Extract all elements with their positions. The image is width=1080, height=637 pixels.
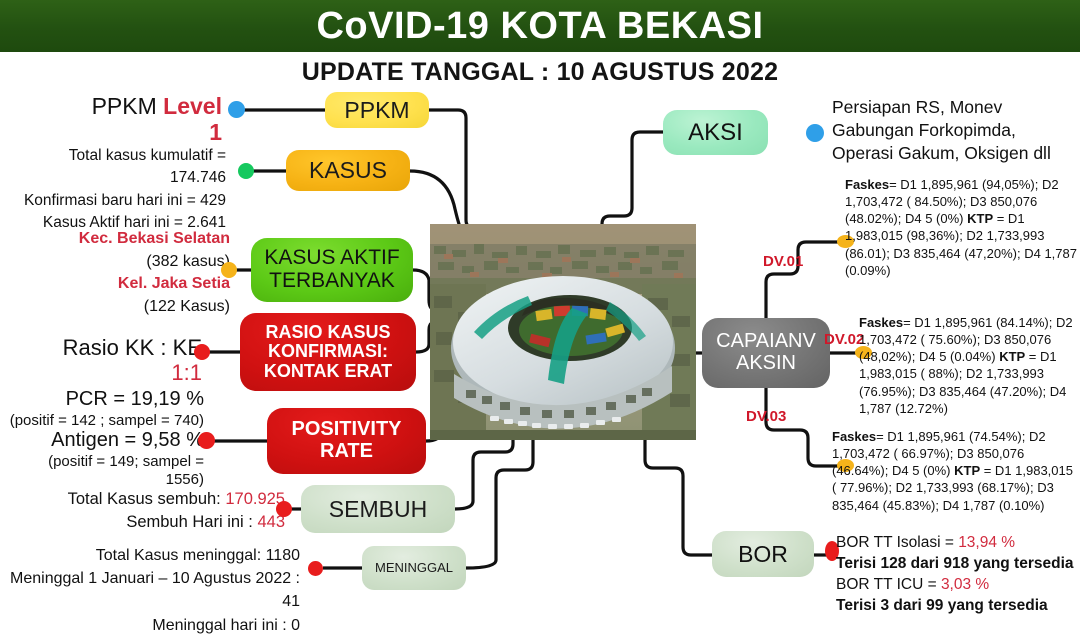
node-kasus[interactable]: KASUS bbox=[286, 150, 410, 191]
kasus-total-kumulatif: Total kasus kumulatif = 174.746 bbox=[10, 145, 226, 190]
dv03-faskes-label: Faskes bbox=[832, 429, 876, 444]
node-kasus-aktif-terbanyak[interactable]: KASUS AKTIF TERBANYAK bbox=[251, 238, 413, 302]
pcr-label: PCR = 19,19 % bbox=[0, 388, 204, 412]
kelurahan-cases-value: (122 Kasus bbox=[144, 298, 225, 315]
sembuh-today-line: Sembuh Hari ini : 443 bbox=[30, 511, 285, 534]
kasus-aktif-bullet-dot bbox=[221, 262, 237, 278]
sembuh-total-label: Total Kasus sembuh: bbox=[68, 490, 226, 508]
rasio-bullet-dot bbox=[194, 344, 210, 360]
bor-text: BOR TT Isolasi = 13,94 % Terisi 128 dari… bbox=[836, 533, 1080, 617]
stadium-illustration bbox=[430, 224, 696, 440]
dv01-label: DV.01 bbox=[763, 253, 803, 270]
node-rasio-line1: RASIO KASUS bbox=[265, 323, 390, 342]
dv02-text: Faskes= D1 1,895,961 (84.14%); D2 1,703,… bbox=[859, 314, 1080, 417]
ppkm-bullet-dot bbox=[228, 101, 245, 118]
antigen-detail-1: (positif = 149; sampel = bbox=[0, 453, 204, 471]
kasus-aktif-terbanyak-text: Kec. Bekasi Selatan (382 kasus) Kel. Jak… bbox=[40, 228, 230, 319]
node-ppkm[interactable]: PPKM bbox=[325, 92, 429, 128]
meninggal-text: Total Kasus meninggal: 1180 Meninggal 1 … bbox=[10, 544, 300, 637]
node-positivity-line1: POSITIVITY bbox=[291, 419, 401, 441]
kecamatan-cases: (382 kasus) bbox=[40, 251, 230, 274]
node-sembuh[interactable]: SEMBUH bbox=[301, 485, 455, 533]
dv02-ktp-label: KTP bbox=[999, 349, 1025, 364]
dv03-ktp-label: KTP bbox=[954, 463, 980, 478]
node-vaksin-line1: CAPAIANV bbox=[716, 331, 816, 353]
node-aksi[interactable]: AKSI bbox=[663, 110, 768, 155]
node-positivity-rate[interactable]: POSITIVITY RATE bbox=[267, 408, 426, 474]
bor-isolasi-line: BOR TT Isolasi = 13,94 % bbox=[836, 533, 1080, 554]
kelurahan-name: Kel. Jaka Setia bbox=[40, 273, 230, 296]
aksi-line1: Persiapan RS, Monev bbox=[832, 96, 1076, 119]
sembuh-today-label: Sembuh Hari ini : bbox=[126, 513, 257, 531]
aksi-bullet-dot bbox=[806, 124, 824, 142]
node-rasio-line3: KONTAK ERAT bbox=[264, 362, 392, 381]
antigen-detail-2: 1556) bbox=[0, 471, 204, 489]
dv03-label: DV.03 bbox=[746, 408, 786, 425]
kelurahan-cases-paren: ) bbox=[225, 298, 230, 315]
kasus-konfirmasi-baru: Konfirmasi baru hari ini = 429 bbox=[10, 190, 226, 212]
kasus-stats-text: Total kasus kumulatif = 174.746 Konfirma… bbox=[10, 145, 226, 235]
rasio-text: Rasio KK : KE 1:1 bbox=[30, 336, 202, 385]
sembuh-bullet-dot bbox=[276, 501, 292, 517]
node-bor[interactable]: BOR bbox=[712, 531, 814, 577]
aksi-line2: Gabungan Forkopimda, bbox=[832, 119, 1076, 142]
bor-icu-label: BOR TT ICU = bbox=[836, 576, 941, 593]
positivity-text: PCR = 19,19 % (positif = 142 ; sampel = … bbox=[0, 388, 204, 488]
meninggal-total: Total Kasus meninggal: 1180 bbox=[10, 544, 300, 567]
positivity-bullet-dot bbox=[198, 432, 215, 449]
meninggal-period: Meninggal 1 Januari – 10 Agustus 2022 : … bbox=[10, 567, 300, 613]
ppkm-level-value: 1 bbox=[209, 119, 222, 145]
center-stadium-photo bbox=[430, 224, 696, 440]
node-vaksin-line2: AKSIN bbox=[736, 353, 796, 375]
dv01-faskes-label: Faskes bbox=[845, 177, 889, 192]
dv01-text: Faskes= D1 1,895,961 (94,05%); D2 1,703,… bbox=[845, 176, 1080, 279]
rasio-value: 1:1 bbox=[30, 361, 202, 386]
node-capaian-vaksin[interactable]: CAPAIANV AKSIN bbox=[702, 318, 830, 388]
node-kasus-aktif-line1: KASUS AKTIF bbox=[264, 247, 399, 270]
bor-isolasi-detail: Terisi 128 dari 918 yang tersedia bbox=[836, 554, 1080, 575]
bor-isolasi-label: BOR TT Isolasi = bbox=[836, 534, 958, 551]
bor-isolasi-value: 13,94 % bbox=[958, 534, 1015, 551]
kasus-bullet-dot bbox=[238, 163, 254, 179]
pcr-detail: (positif = 142 ; sampel = 740) bbox=[0, 412, 204, 430]
meninggal-today: Meninggal hari ini : 0 bbox=[10, 614, 300, 637]
kecamatan-name: Kec. Bekasi Selatan bbox=[40, 228, 230, 251]
kelurahan-cases: (122 Kasus) bbox=[40, 296, 230, 319]
ppkm-level-text: PPKM Level 1 bbox=[22, 93, 222, 146]
ppkm-level-word: Level bbox=[163, 93, 222, 119]
rasio-label: Rasio KK : KE bbox=[30, 336, 202, 361]
node-rasio-kasus[interactable]: RASIO KASUS KONFIRMASI: KONTAK ERAT bbox=[240, 313, 416, 391]
ppkm-label: PPKM bbox=[92, 93, 164, 119]
dv01-ktp-label: KTP bbox=[967, 211, 993, 226]
aksi-text: Persiapan RS, Monev Gabungan Forkopimda,… bbox=[832, 96, 1076, 164]
node-kasus-aktif-line2: TERBANYAK bbox=[269, 270, 395, 293]
dv02-faskes-label: Faskes bbox=[859, 315, 903, 330]
antigen-label: Antigen = 9,58 % bbox=[0, 429, 204, 453]
node-meninggal[interactable]: MENINGGAL bbox=[362, 546, 466, 590]
infographic-root: CoVID-19 KOTA BEKASI UPDATE TANGGAL : 10… bbox=[0, 0, 1080, 609]
bor-icu-detail: Terisi 3 dari 99 yang tersedia bbox=[836, 596, 1080, 617]
sembuh-total-line: Total Kasus sembuh: 170.925 bbox=[30, 488, 285, 511]
sembuh-text: Total Kasus sembuh: 170.925 Sembuh Hari … bbox=[30, 488, 285, 535]
node-positivity-line2: RATE bbox=[320, 441, 373, 463]
aksi-line3: Operasi Gakum, Oksigen dll bbox=[832, 142, 1076, 165]
meninggal-bullet-dot bbox=[308, 561, 323, 576]
dv03-text: Faskes= D1 1,895,961 (74.54%); D2 1,703,… bbox=[832, 428, 1080, 514]
node-rasio-line2: KONFIRMASI: bbox=[268, 342, 388, 361]
bor-icu-value: 3,03 % bbox=[941, 576, 989, 593]
bor-icu-line: BOR TT ICU = 3,03 % bbox=[836, 575, 1080, 596]
